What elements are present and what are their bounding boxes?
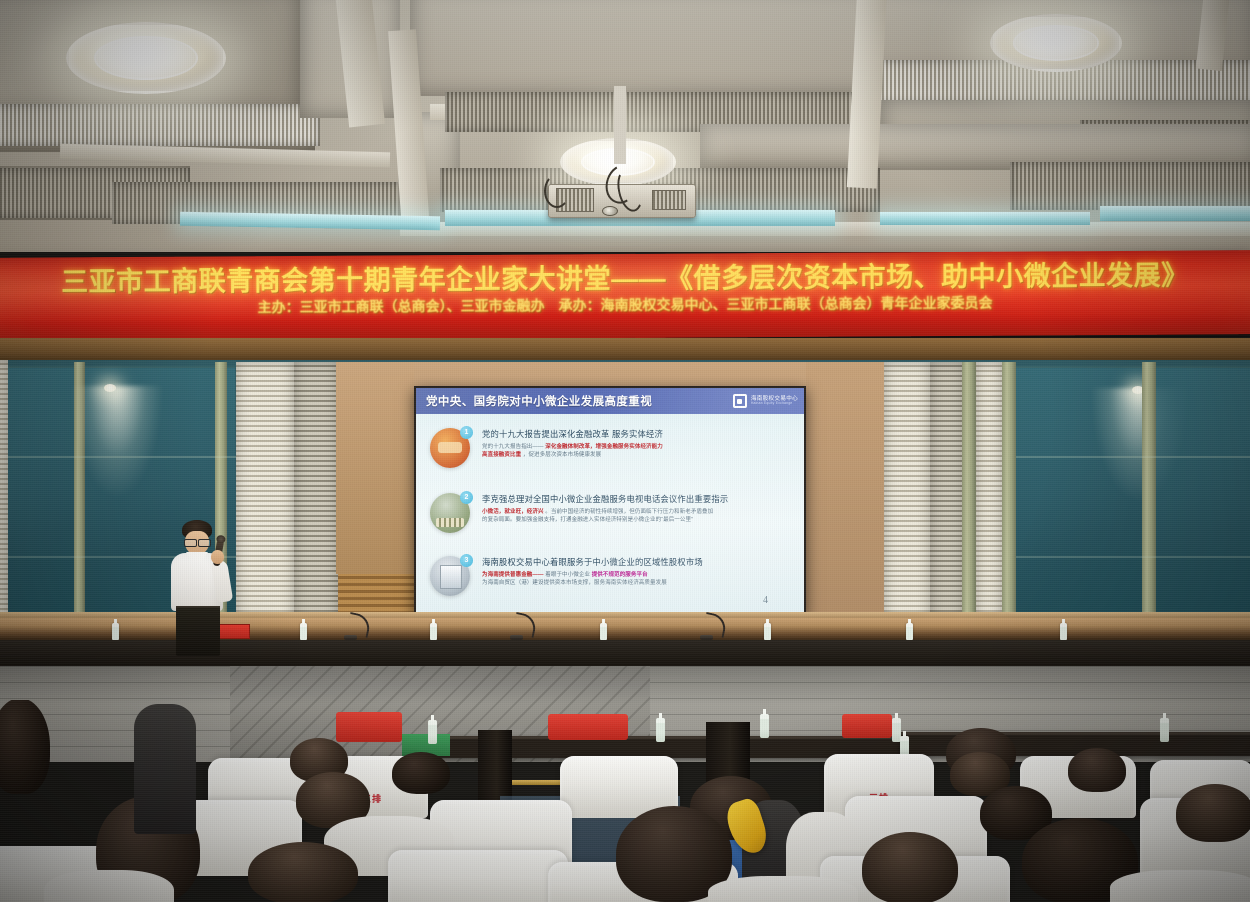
slide-bullet-line: 小微活，就业旺，经济兴 。当前中国经济的韧性持续增强，但仍面临下行压力和新老矛盾… bbox=[482, 508, 792, 516]
audience-head bbox=[392, 752, 450, 794]
slide-bullet-heading: 海南股权交易中心着眼服务于中小微企业的区域性股权市场 bbox=[482, 556, 792, 568]
slide-line-highlight: 小微活，就业旺，经济兴 bbox=[482, 509, 544, 515]
seat-back bbox=[548, 714, 628, 740]
slide-logo: 海南股权交易中心 Hainan Equity Exchange bbox=[733, 394, 798, 408]
exchange-logo-icon bbox=[733, 394, 747, 408]
ceiling-strip-light bbox=[1100, 206, 1250, 221]
slide-header: 党中央、国务院对中小微企业发展高度重视 海南股权交易中心 Hainan Equi… bbox=[416, 388, 804, 414]
water-bottle bbox=[430, 623, 437, 640]
slide-bullet-badge: 3 bbox=[460, 554, 473, 567]
slide-line-text: 为海南自贸区（港）建设提供资本市场支撑，服务海南实体经济高质量发展 bbox=[482, 580, 667, 586]
slide-line-text: ，促进多层次资本市场健康发展 bbox=[523, 452, 601, 458]
ceiling-coffer bbox=[410, 0, 880, 96]
presenter-hand bbox=[211, 550, 224, 564]
ceiling-grille bbox=[1010, 162, 1250, 210]
water-bottle bbox=[760, 714, 769, 738]
ceiling-grille bbox=[0, 104, 320, 146]
wall-pilaster bbox=[1142, 362, 1156, 650]
ceiling-light-fixture bbox=[990, 14, 1122, 72]
slide-bullet-heading: 李克强总理对全国中小微企业金融服务电视电话会议作出重要指示 bbox=[482, 493, 792, 505]
slide-line-highlight: 提供不规范的服务平台 bbox=[592, 572, 648, 578]
audience-head bbox=[0, 700, 50, 794]
slide-line-text: 着眼于中小微企业 bbox=[545, 572, 590, 578]
projector-mount-pole bbox=[614, 86, 626, 164]
water-bottle bbox=[656, 718, 665, 742]
slide-bullet-row: 1 党的十九大报告提出深化金融改革 服务实体经济 党的十九大报告指出—— 深化金… bbox=[430, 428, 792, 468]
conference-hall-photo: 三亚市工商联青商会第十期青年企业家大讲堂——《借多层次资本市场、助中小微企业发展… bbox=[0, 0, 1250, 902]
audience-head bbox=[1176, 784, 1250, 842]
audience-shoulders bbox=[1110, 870, 1250, 902]
projector-lens bbox=[602, 206, 618, 216]
slide-title: 党中央、国务院对中小微企业发展高度重视 bbox=[426, 393, 652, 409]
event-banner: 三亚市工商联青商会第十期青年企业家大讲堂——《借多层次资本市场、助中小微企业发展… bbox=[0, 250, 1250, 342]
chair-sash-label: 15 bbox=[1140, 846, 1250, 862]
presenter bbox=[160, 520, 236, 652]
audience-area: 三排 三排 三排 15 bbox=[0, 700, 1250, 902]
audience-head bbox=[1068, 748, 1126, 792]
wall-louver-vent bbox=[930, 362, 964, 650]
seat-back bbox=[842, 714, 892, 738]
slide-bullet-heading: 党的十九大报告提出深化金融改革 服务实体经济 bbox=[482, 428, 792, 440]
presentation-slide: 党中央、国务院对中小微企业发展高度重视 海南股权交易中心 Hainan Equi… bbox=[416, 388, 804, 614]
slide-bullet-line: 为海南提供普惠金融—— 着眼于中小微企业 提供不规范的服务平台 bbox=[482, 571, 792, 579]
panel-reveal-line bbox=[8, 456, 236, 458]
wall-louver-vent bbox=[236, 362, 294, 650]
wall-louver-vent bbox=[294, 362, 338, 650]
wall-louver-vent bbox=[0, 360, 8, 652]
slide-bullet-line: 为海南自贸区（港）建设提供资本市场支撑，服务海南实体经济高质量发展 bbox=[482, 579, 792, 587]
slide-line-highlight: 高直接融资比重 bbox=[482, 452, 521, 458]
audience-head bbox=[248, 842, 358, 902]
wall-louver-vent bbox=[976, 362, 1002, 650]
water-bottle bbox=[764, 623, 771, 640]
water-bottle bbox=[428, 720, 437, 744]
water-bottle bbox=[600, 623, 607, 640]
slide-bullet-line: 党的十九大报告指出—— 深化金融体制改革，增强金融服务实体经济能力 bbox=[482, 443, 792, 451]
glasses-icon bbox=[184, 539, 211, 545]
wall-cornice-band bbox=[0, 338, 1250, 362]
ceiling-beam bbox=[60, 144, 390, 168]
slide-line-text: 党的十九大报告指出—— bbox=[482, 444, 544, 450]
slide-bullet-row: 2 李克强总理对全国中小微企业金融服务电视电话会议作出重要指示 小微活，就业旺，… bbox=[430, 493, 792, 533]
projector-cable bbox=[544, 174, 570, 208]
slide-bullet-badge: 2 bbox=[460, 491, 473, 504]
projection-screen: 党中央、国务院对中小微企业发展高度重视 海南股权交易中心 Hainan Equi… bbox=[414, 386, 806, 616]
ceiling-strip-light bbox=[880, 212, 1090, 225]
audience-shoulders bbox=[708, 876, 858, 902]
wall-louver-vent bbox=[884, 362, 930, 650]
government-building-icon: 2 bbox=[430, 493, 470, 533]
presenter-trousers bbox=[176, 608, 220, 656]
exchange-center-icon: 3 bbox=[430, 556, 470, 596]
congress-seal-icon: 1 bbox=[430, 428, 470, 468]
water-bottle bbox=[1060, 623, 1067, 640]
wall-pilaster bbox=[962, 362, 976, 650]
slide-logo-name-en: Hainan Equity Exchange bbox=[751, 402, 798, 405]
wall-panel bbox=[8, 366, 78, 648]
panel-reveal-line bbox=[1016, 556, 1250, 558]
slide-bullet-line: 高直接融资比重 ，促进多层次资本市场健康发展 bbox=[482, 451, 792, 459]
ceiling-light-fixture bbox=[66, 22, 226, 94]
water-bottle bbox=[1160, 718, 1169, 742]
audience-chair bbox=[388, 850, 568, 902]
slide-page-number: 4 bbox=[763, 595, 768, 606]
panel-reveal-line bbox=[1016, 456, 1250, 458]
slide-line-text: 。当前中国经济的韧性持续增强，但仍面临下行压力和新老矛盾叠加 bbox=[545, 509, 713, 515]
wall-plaster-section bbox=[806, 362, 886, 652]
ceiling-mounted-projector bbox=[548, 158, 698, 230]
slide-bullet-badge: 1 bbox=[460, 426, 473, 439]
wall-pilaster bbox=[1002, 362, 1016, 650]
audience-shoulders bbox=[44, 870, 174, 902]
wall-sconce-glow bbox=[72, 386, 162, 496]
wall-panel bbox=[1156, 366, 1250, 648]
audience-head bbox=[862, 832, 958, 902]
wall-plaster-section bbox=[336, 362, 416, 574]
slide-line-highlight: 为海南提供普惠金融—— bbox=[482, 572, 544, 578]
projector-vent-grille bbox=[652, 190, 686, 210]
audience-shoulders bbox=[134, 704, 196, 834]
slide-line-highlight: 深化金融体制改革，增强金融服务实体经济能力 bbox=[545, 444, 663, 450]
water-bottle bbox=[906, 623, 913, 640]
slide-line-text: 的复杂局面。要加强金融支持，打通金融进入实体经济特别是小微企业的“最后一公里” bbox=[482, 517, 693, 523]
slide-bullet-row: 3 海南股权交易中心着眼服务于中小微企业的区域性股权市场 为海南提供普惠金融——… bbox=[430, 556, 792, 596]
seat-back bbox=[336, 712, 402, 742]
slide-bullet-line: 的复杂局面。要加强金融支持，打通金融进入实体经济特别是小微企业的“最后一公里” bbox=[482, 516, 792, 524]
water-bottle bbox=[112, 623, 119, 640]
water-bottle bbox=[300, 623, 307, 640]
